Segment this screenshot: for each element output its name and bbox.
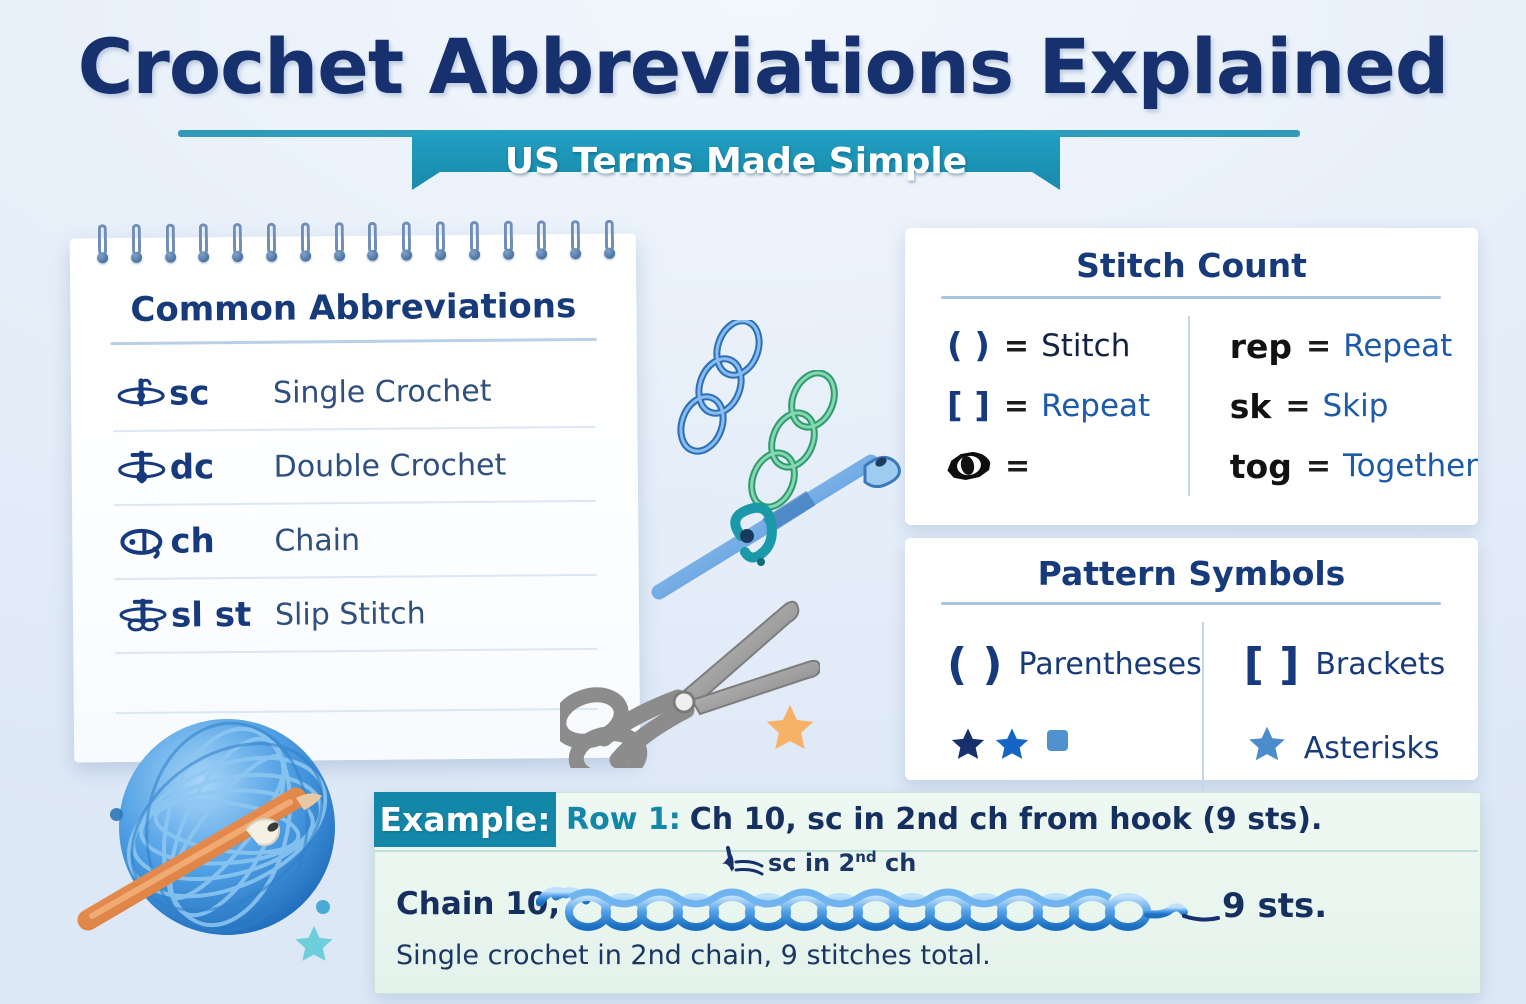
- spiral-ring-icon: [603, 220, 616, 260]
- square-icon: [1047, 730, 1068, 751]
- annotation-superscript: nd: [855, 848, 876, 866]
- stitch-count-left-column: ( ) = Stitch [ ] = Repeat =: [905, 316, 1188, 496]
- parentheses-symbol: ( ): [947, 639, 1003, 690]
- stitch-count-value: Stitch: [1041, 328, 1130, 364]
- abbreviation-code: tog: [1230, 447, 1292, 486]
- abbreviation-list: sc Single Crochet dc Double Crochet: [71, 354, 640, 715]
- spiral-ring-icon: [265, 223, 278, 263]
- slip-stitch-symbol-icon: [115, 599, 171, 633]
- stitch-count-value: Skip: [1323, 388, 1389, 424]
- pattern-symbols-grid: ( ) Parentheses [ ] Brackets: [905, 622, 1478, 790]
- example-row-label: Row 1:: [566, 802, 681, 837]
- stitch-count-value: Repeat: [1343, 328, 1452, 364]
- example-divider: [375, 850, 1478, 852]
- abbreviation-name: Double Crochet: [274, 447, 507, 484]
- spiral-ring-icon: [231, 223, 244, 263]
- equals-sign: =: [1004, 389, 1029, 424]
- subtitle-text: US Terms Made Simple: [412, 137, 1060, 185]
- pattern-symbols-right-column: [ ] Brackets Asterisks: [1202, 622, 1478, 790]
- example-subtitle: Single crochet in 2nd chain, 9 stitches …: [396, 940, 991, 971]
- infographic-canvas: Crochet Abbreviations Explained US Terms…: [0, 0, 1526, 1004]
- notepad-title-rule: [111, 338, 597, 345]
- blank-ruled-line: [115, 650, 598, 714]
- stitch-count-value: Repeat: [1041, 388, 1150, 424]
- example-row-line: Row 1: Ch 10, sc in 2nd ch from hook (9 …: [566, 792, 1322, 847]
- spiral-ring-icon: [130, 224, 143, 264]
- spiral-ring-icon: [332, 222, 345, 262]
- example-count-label: 9 sts.: [1222, 886, 1327, 926]
- common-abbreviations-card: Common Abbreviations sc Single Crochet: [70, 234, 641, 763]
- crochet-hook-blue-illustration: [645, 440, 905, 610]
- brackets-symbol: [ ]: [947, 386, 990, 426]
- list-item[interactable]: tog = Together: [1230, 436, 1478, 496]
- stitch-count-right-column: rep = Repeat sk = Skip tog = Together: [1188, 316, 1478, 496]
- spiral-ring-icon: [501, 221, 514, 261]
- abbreviation-name: Chain: [274, 522, 360, 558]
- pattern-symbols-left-column: ( ) Parentheses: [905, 622, 1202, 790]
- equals-sign: =: [1306, 329, 1331, 364]
- brackets-symbol: [ ]: [1244, 639, 1300, 690]
- page-title: Crochet Abbreviations Explained: [0, 22, 1526, 111]
- example-tab-label: Example:: [380, 800, 551, 839]
- spiral-ring-icon: [96, 224, 109, 264]
- abbreviation-code: ch: [170, 521, 274, 562]
- star-icon: [991, 725, 1033, 771]
- list-item[interactable]: dc Double Crochet: [113, 428, 596, 506]
- list-item[interactable]: ( ) Parentheses: [947, 622, 1202, 706]
- chain-symbol-icon: [114, 525, 170, 559]
- list-item[interactable]: sc Single Crochet: [113, 354, 596, 432]
- spiral-ring-icon: [468, 221, 481, 261]
- crochet-hook-orange-illustration: [60, 780, 350, 940]
- list-item[interactable]: rep = Repeat: [1230, 316, 1478, 376]
- equals-sign: =: [1306, 449, 1331, 484]
- list-item[interactable]: ( ) = Stitch: [947, 316, 1188, 376]
- pattern-symbol-label: Brackets: [1315, 647, 1445, 682]
- abbreviation-name: Single Crochet: [273, 373, 492, 410]
- example-annotation: sc in 2nd ch: [768, 848, 916, 877]
- list-item[interactable]: [947, 706, 1202, 790]
- pattern-symbols-rule: [941, 602, 1441, 605]
- single-crochet-symbol-icon: [113, 377, 169, 411]
- stitch-count-grid: ( ) = Stitch [ ] = Repeat =: [905, 316, 1478, 496]
- spiral-ring-icon: [535, 220, 548, 260]
- list-item[interactable]: [ ] = Repeat: [947, 376, 1188, 436]
- chain-links-green-illustration: [735, 370, 855, 520]
- parentheses-symbol: ( ): [947, 326, 990, 366]
- spiral-ring-icon: [163, 224, 176, 264]
- abbreviation-code: sl st: [171, 595, 275, 636]
- spiral-ring-icon: [569, 220, 582, 260]
- annotation-suffix: ch: [877, 849, 917, 877]
- eye-icon: [947, 452, 991, 480]
- list-item[interactable]: ch Chain: [114, 502, 597, 580]
- list-item[interactable]: sl st Slip Stitch: [115, 576, 598, 654]
- pattern-symbol-label: Parentheses: [1019, 647, 1202, 682]
- star-icon: [947, 725, 989, 771]
- stitch-count-value: Together: [1343, 448, 1478, 484]
- pattern-symbols-title: Pattern Symbols: [905, 554, 1478, 593]
- abbreviation-code: sc: [169, 373, 273, 414]
- abbreviation-code: rep: [1230, 327, 1292, 366]
- list-item[interactable]: Asterisks: [1244, 706, 1478, 790]
- equals-sign: =: [1285, 389, 1310, 424]
- abbreviation-name: Slip Stitch: [275, 596, 426, 632]
- stitch-count-rule: [941, 296, 1441, 299]
- double-crochet-symbol-icon: [114, 451, 170, 485]
- spiral-ring-icon: [197, 223, 210, 263]
- pattern-symbols-card: Pattern Symbols ( ) Parentheses: [905, 538, 1478, 780]
- stitch-count-card: Stitch Count ( ) = Stitch [ ] = Repeat: [905, 228, 1478, 525]
- abbreviation-code: dc: [170, 447, 274, 488]
- notepad-spiral-binding: [76, 220, 636, 269]
- annotation-prefix: sc in 2: [768, 849, 855, 877]
- abbreviation-code: sk: [1230, 387, 1272, 426]
- spiral-ring-icon: [299, 222, 312, 262]
- spiral-ring-icon: [366, 222, 379, 262]
- star-icon: [1244, 723, 1290, 773]
- list-item[interactable]: [ ] Brackets: [1244, 622, 1478, 706]
- example-tab: Example:: [374, 792, 556, 847]
- equals-sign: =: [1004, 329, 1029, 364]
- pattern-symbol-label: Asterisks: [1304, 731, 1440, 766]
- list-item[interactable]: sk = Skip: [1230, 376, 1478, 436]
- star-orange-icon: [760, 700, 820, 758]
- dot-blue-icon: [110, 808, 123, 821]
- star-teal-icon: [290, 922, 338, 968]
- equals-sign: =: [1005, 449, 1030, 484]
- example-row-text: Ch 10, sc in 2nd ch from hook (9 sts).: [690, 802, 1323, 837]
- stitch-count-title: Stitch Count: [905, 246, 1478, 285]
- list-item[interactable]: =: [947, 436, 1188, 496]
- spiral-ring-icon: [400, 222, 413, 262]
- dot-teal-icon: [316, 900, 330, 914]
- example-chain-label: Chain 10,: [396, 886, 560, 922]
- chain-links-blue-illustration: [668, 320, 788, 460]
- notepad-title: Common Abbreviations: [70, 286, 636, 331]
- spiral-ring-icon: [434, 221, 447, 261]
